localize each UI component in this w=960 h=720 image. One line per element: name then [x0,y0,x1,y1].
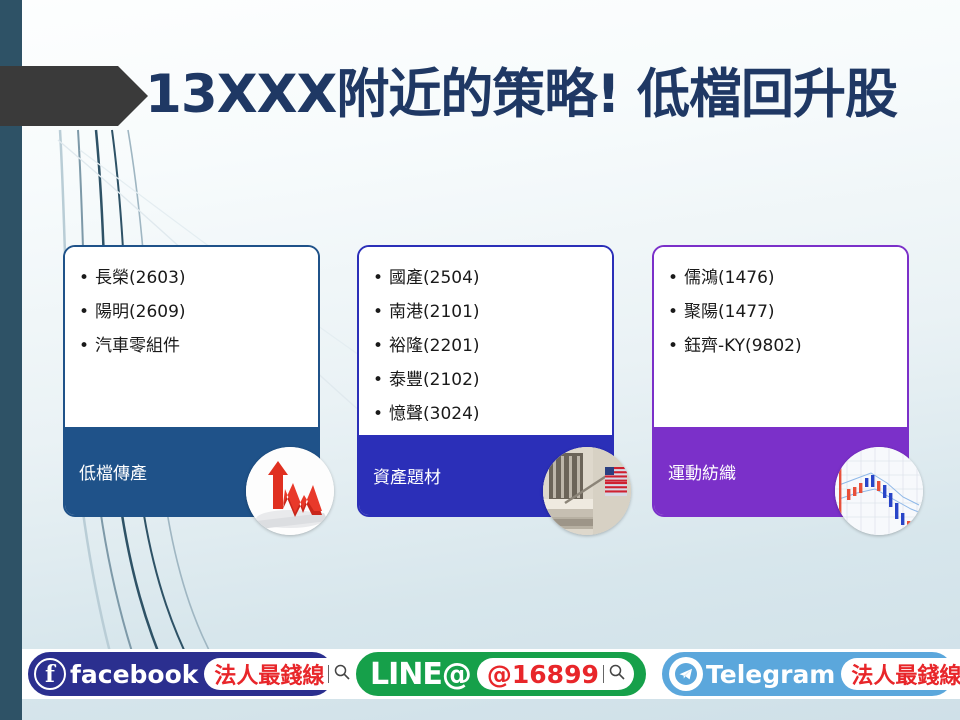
list-item: 長榮(2603) [79,261,308,295]
slide-canvas: 13XXX附近的策略! 低檔回升股 長榮(2603) 陽明(2609) 汽車零組… [0,0,960,720]
list-item: 國產(2504) [373,261,602,295]
candlestick-chart-icon [835,447,923,535]
facebook-icon: f [34,658,66,690]
list-item: 聚陽(1477) [668,295,897,329]
list-item: 南港(2101) [373,295,602,329]
facebook-handle-pill[interactable]: 法人最錢線 [204,658,359,690]
rising-red-arrow-chart-icon [246,447,334,535]
search-icon[interactable] [333,663,351,685]
search-icon[interactable] [608,663,626,685]
telegram-brand-label: Telegram [706,660,835,689]
card-stock-list: 儒鴻(1476) 聚陽(1477) 鈺齊-KY(9802) [654,247,907,427]
list-item: 汽車零組件 [79,329,308,363]
card-stock-list: 國產(2504) 南港(2101) 裕隆(2201) 泰豐(2102) 憶聲(3… [359,247,612,435]
card-category-label: 低檔傳產 [79,459,147,484]
category-card-group: 長榮(2603) 陽明(2609) 汽車零組件 低檔傳產 國產(2504) 南港… [0,245,960,520]
divider [603,665,604,683]
telegram-handle-text: 法人最錢線 [851,658,960,690]
list-item: 憶聲(3024) [373,397,602,431]
line-handle-text: @16899 [487,660,599,689]
telegram-paper-plane-icon [669,657,703,691]
line-handle-pill[interactable]: @16899 [477,658,634,690]
card-category-label: 運動紡織 [668,459,736,484]
facebook-handle-text: 法人最錢線 [214,658,324,690]
list-item: 泰豐(2102) [373,363,602,397]
title-arrow-shape [0,66,148,126]
social-media-bar: f facebook 法人最錢線 LINE@ @16899 [22,649,960,699]
facebook-brand-label: facebook [70,660,198,689]
card-category-label: 資產題材 [373,463,441,488]
telegram-handle-pill[interactable]: 法人最錢線 [841,658,960,690]
divider [328,665,329,683]
list-item: 裕隆(2201) [373,329,602,363]
list-item: 陽明(2609) [79,295,308,329]
line-badge[interactable]: LINE@ @16899 [356,652,646,696]
telegram-badge[interactable]: Telegram 法人最錢線 [662,652,954,696]
list-item: 鈺齊-KY(9802) [668,329,897,363]
line-brand-label: LINE@ [370,657,471,692]
page-title: 13XXX附近的策略! 低檔回升股 [145,60,960,130]
card-stock-list: 長榮(2603) 陽明(2609) 汽車零組件 [65,247,318,427]
nyse-building-us-flag-icon [543,447,631,535]
facebook-badge[interactable]: f facebook 法人最錢線 [28,652,334,696]
list-item: 儒鴻(1476) [668,261,897,295]
